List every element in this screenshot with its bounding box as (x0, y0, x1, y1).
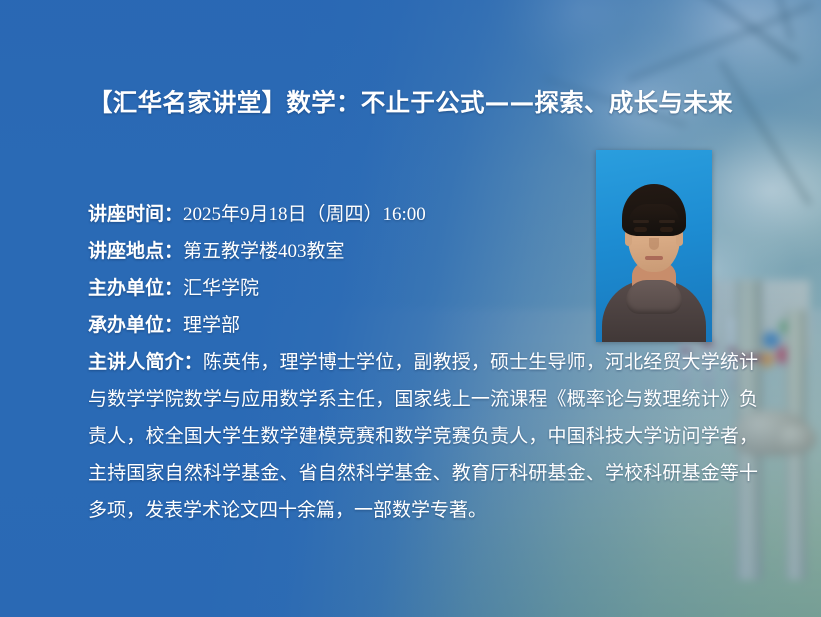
detail-label-location: 讲座地点： (88, 241, 183, 262)
detail-row-time: 讲座时间：2025年9月18日（周四）16:00 (88, 196, 758, 233)
detail-value-organizer: 汇华学院 (183, 278, 259, 299)
lecture-poster: 【汇华名家讲堂】数学：不止于公式——探索、成长与未来 讲座时间：2025年9月1… (0, 0, 821, 617)
lecture-details: 讲座时间：2025年9月18日（周四）16:00 讲座地点：第五教学楼403教室… (88, 196, 758, 529)
speaker-bio: 主讲人简介：陈英伟，理学博士学位，副教授，硕士生导师，河北经贸大学统计与数学学院… (88, 344, 758, 529)
detail-label-time: 讲座时间： (88, 204, 183, 225)
detail-value-time: 2025年9月18日（周四）16:00 (183, 204, 426, 225)
detail-value-location: 第五教学楼403教室 (183, 241, 345, 262)
detail-row-location: 讲座地点：第五教学楼403教室 (88, 233, 758, 270)
detail-row-organizer: 主办单位：汇华学院 (88, 270, 758, 307)
speaker-bio-label: 主讲人简介： (88, 352, 203, 373)
detail-label-host: 承办单位： (88, 315, 183, 336)
page-title: 【汇华名家讲堂】数学：不止于公式——探索、成长与未来 (88, 88, 788, 117)
speaker-bio-text: 陈英伟，理学博士学位，副教授，硕士生导师，河北经贸大学统计与数学学院数学与应用数… (88, 352, 758, 521)
detail-value-host: 理学部 (183, 315, 240, 336)
detail-row-host: 承办单位：理学部 (88, 307, 758, 344)
detail-label-organizer: 主办单位： (88, 278, 183, 299)
